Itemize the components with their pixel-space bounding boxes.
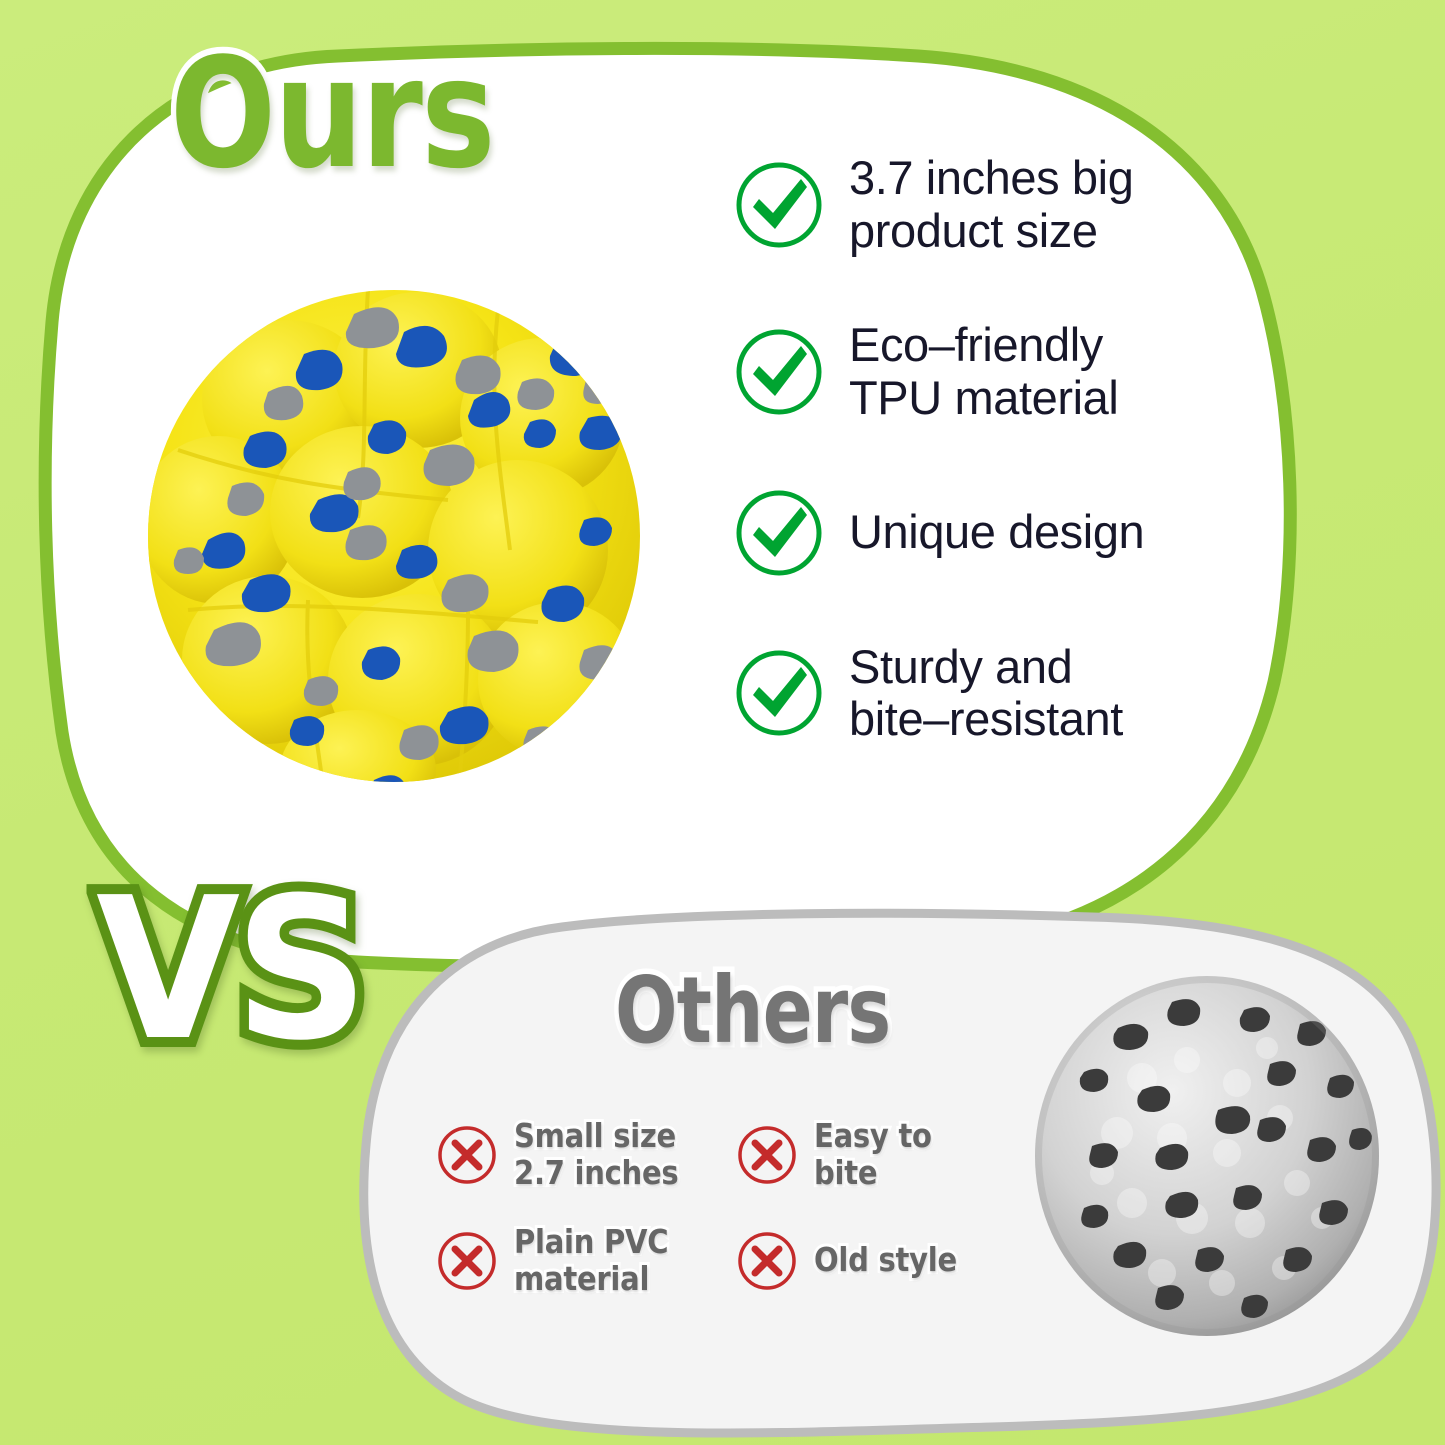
- feature-label: 3.7 inches big product size: [849, 152, 1133, 257]
- drawback-item: Old style: [736, 1224, 1016, 1298]
- feature-item: Eco–friendly TPU material: [733, 319, 1203, 424]
- drawback-item: Easy to bite: [736, 1118, 1016, 1192]
- others-title: Others: [615, 965, 890, 1057]
- x-circle-icon: [736, 1230, 798, 1292]
- drawback-label: Old style: [814, 1242, 957, 1279]
- check-circle-icon: [733, 326, 825, 418]
- feature-item: 3.7 inches big product size: [733, 152, 1203, 257]
- versus-label: VS: [96, 872, 363, 1068]
- ours-feature-list: 3.7 inches big product size Eco–friendly…: [733, 152, 1203, 746]
- x-circle-icon: [736, 1124, 798, 1186]
- x-circle-icon: [436, 1230, 498, 1292]
- drawback-label: Plain PVC material: [514, 1224, 668, 1298]
- drawback-label: Small size 2.7 inches: [514, 1118, 678, 1192]
- drawback-label: Easy to bite: [814, 1118, 992, 1192]
- ours-product-image: [118, 250, 670, 810]
- check-circle-icon: [733, 487, 825, 579]
- drawback-item: Plain PVC material: [436, 1224, 736, 1298]
- comparison-infographic: Ours 3.7 inches big product size Eco–fri…: [0, 0, 1445, 1445]
- feature-label: Eco–friendly TPU material: [849, 319, 1118, 424]
- ours-title: Ours: [170, 38, 494, 190]
- others-product-image: [1022, 968, 1392, 1343]
- x-circle-icon: [436, 1124, 498, 1186]
- feature-label: Unique design: [849, 506, 1144, 559]
- others-drawback-list: Small size 2.7 inches Easy to bite Plain…: [436, 1118, 1016, 1298]
- feature-item: Unique design: [733, 487, 1203, 579]
- feature-label: Sturdy and bite–resistant: [849, 641, 1123, 746]
- feature-item: Sturdy and bite–resistant: [733, 641, 1203, 746]
- check-circle-icon: [733, 647, 825, 739]
- check-circle-icon: [733, 159, 825, 251]
- drawback-item: Small size 2.7 inches: [436, 1118, 736, 1192]
